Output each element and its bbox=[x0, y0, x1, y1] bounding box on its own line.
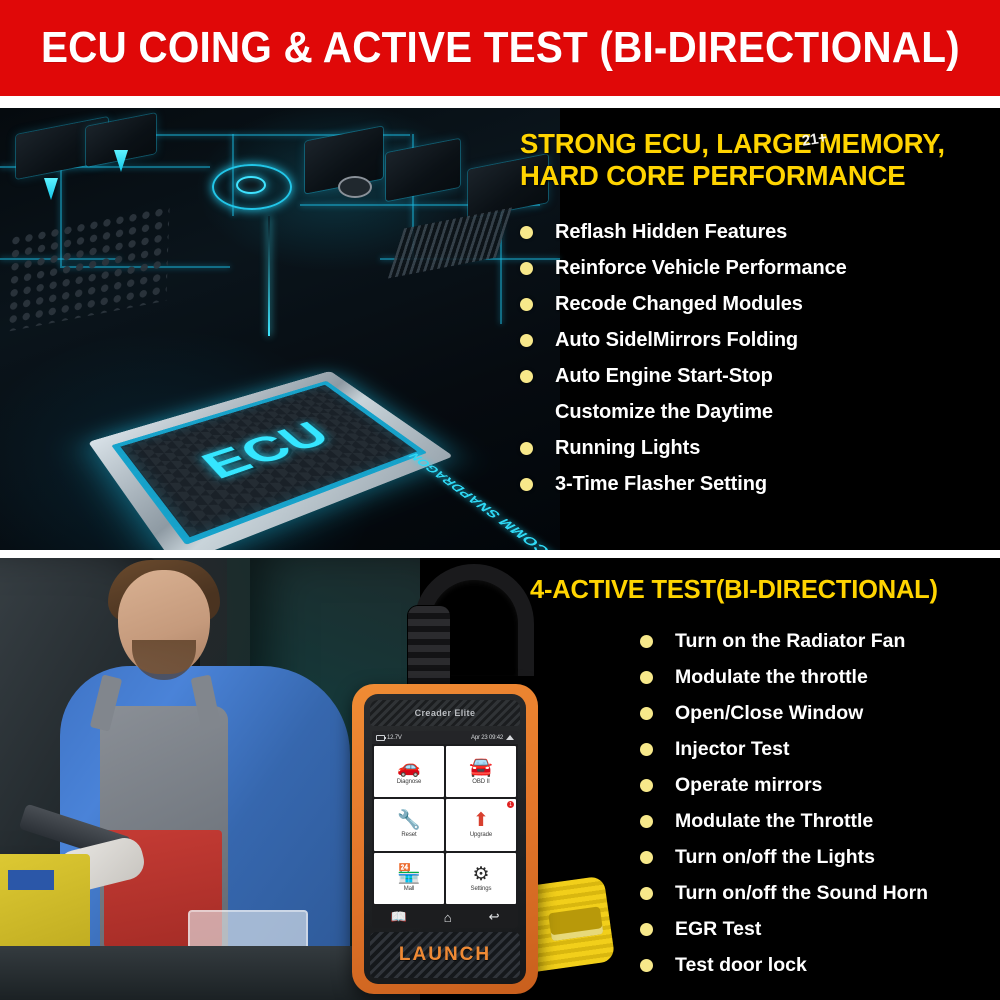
bullet-dot-icon bbox=[520, 226, 533, 239]
bullet-dot-icon bbox=[640, 707, 653, 720]
list-item-label: Running Lights bbox=[555, 437, 700, 460]
list-item-label: Open/Close Window bbox=[675, 702, 863, 725]
scan-tool-device: Creader Elite 12.7V Apr 23 09:42 bbox=[330, 588, 560, 1000]
device-brand-top: Creader Elite bbox=[415, 708, 476, 718]
toolbox-label bbox=[8, 870, 54, 890]
list-item: Auto Engine Start-Stop bbox=[520, 358, 990, 394]
bullet-dot-icon bbox=[520, 262, 533, 275]
bullet-dot-icon bbox=[640, 851, 653, 864]
tile-mall[interactable]: 🏪 Mall bbox=[374, 853, 444, 904]
ecu-heading: STRONG ECU, LARGE MEMORY, HARD CORE PERF… bbox=[520, 128, 990, 192]
battery-icon bbox=[376, 735, 385, 741]
list-item-label: Reflash Hidden Features bbox=[555, 221, 787, 244]
board-led bbox=[114, 150, 128, 172]
list-item-label: Turn on/off the Sound Horn bbox=[675, 882, 928, 905]
list-item: Turn on/off the Sound Horn bbox=[640, 875, 1000, 911]
bullet-dot-icon bbox=[640, 779, 653, 792]
upgrade-icon: ⬆ bbox=[473, 811, 489, 830]
ecu-chip-package: ECU QUALCOMM SNAPDRAGON bbox=[88, 371, 453, 550]
list-item-label: 3-Time Flasher Setting bbox=[555, 473, 767, 496]
list-item: Reinforce Vehicle Performance bbox=[520, 250, 990, 286]
bullet-dot-icon bbox=[520, 370, 533, 383]
list-item: Modulate the Throttle bbox=[640, 803, 1000, 839]
obd-icon: 🚘 bbox=[469, 758, 493, 777]
list-item-label: Recode Changed Modules bbox=[555, 293, 803, 316]
device-body: Creader Elite 12.7V Apr 23 09:42 bbox=[352, 684, 538, 994]
diagnose-icon: 🚗 bbox=[397, 758, 421, 777]
status-left: 12.7V bbox=[376, 735, 402, 741]
bullet-dot-icon bbox=[640, 743, 653, 756]
ecu-text-column: STRONG ECU, LARGE MEMORY, HARD CORE PERF… bbox=[520, 128, 990, 502]
ecu-heading-line2: HARD CORE PERFORMANCE bbox=[520, 160, 990, 192]
bullet-dot-icon bbox=[520, 478, 533, 491]
list-item: Modulate the throttle bbox=[640, 659, 1000, 695]
bullet-dot-icon bbox=[640, 815, 653, 828]
list-item-label: Turn on the Radiator Fan bbox=[675, 630, 905, 653]
circuit-board-image: ECU QUALCOMM SNAPDRAGON bbox=[0, 108, 560, 550]
bullet-dot-placeholder bbox=[520, 406, 533, 419]
reset-icon: 🔧 bbox=[397, 811, 421, 830]
list-item: Injector Test bbox=[640, 731, 1000, 767]
tile-label: OBD II bbox=[472, 779, 489, 785]
board-chip bbox=[386, 139, 460, 201]
ecu-feature-list: Reflash Hidden Features Reinforce Vehicl… bbox=[520, 214, 990, 502]
tile-label: Diagnose bbox=[397, 779, 422, 785]
tile-label: Mall bbox=[404, 886, 415, 892]
tile-label: Upgrade bbox=[470, 832, 492, 838]
list-item-label: Turn on/off the Lights bbox=[675, 846, 875, 869]
list-item: Test door lock bbox=[640, 947, 1000, 983]
ecu-panel: ECU QUALCOMM SNAPDRAGON STRONG ECU, LARG… bbox=[0, 108, 1000, 550]
device-inner-shell: Creader Elite 12.7V Apr 23 09:42 bbox=[364, 694, 526, 984]
active-test-feature-list: Turn on the Radiator Fan Modulate the th… bbox=[640, 623, 1000, 983]
bullet-dot-icon bbox=[520, 298, 533, 311]
list-item-label: Test door lock bbox=[675, 954, 807, 977]
ecu-chip-label: ECU bbox=[194, 417, 341, 486]
board-led bbox=[44, 178, 58, 200]
header-banner: ECU COING & ACTIVE TEST (BI-DIRECTIONAL) bbox=[0, 0, 1000, 96]
bullet-dot-icon bbox=[640, 959, 653, 972]
list-item: Customize the Daytime bbox=[520, 394, 990, 430]
bullet-dot-icon bbox=[520, 334, 533, 347]
back-icon[interactable]: ↩ bbox=[489, 909, 500, 925]
list-item: Turn on/off the Lights bbox=[640, 839, 1000, 875]
device-top-bezel: Creader Elite bbox=[370, 700, 520, 726]
active-test-text-column: 4-ACTIVE TEST(BI-DIRECTIONAL) Turn on th… bbox=[530, 576, 1000, 983]
upgrade-badge: 1 bbox=[507, 801, 514, 808]
board-heatsink bbox=[388, 208, 512, 279]
tile-settings[interactable]: ⚙ Settings bbox=[446, 853, 516, 904]
tile-obd2[interactable]: 🚘 OBD II bbox=[446, 746, 516, 797]
device-nav-bar: 📖 ⌂ ↩ bbox=[372, 906, 518, 928]
active-test-panel: Creader Elite 12.7V Apr 23 09:42 bbox=[0, 558, 1000, 1000]
device-screen[interactable]: 12.7V Apr 23 09:42 🚗 Diagnose bbox=[372, 731, 518, 928]
laser-beam bbox=[268, 216, 270, 336]
bullet-dot-icon bbox=[640, 635, 653, 648]
list-item: Operate mirrors bbox=[640, 767, 1000, 803]
list-item-label: Modulate the Throttle bbox=[675, 810, 873, 833]
list-item-label: Customize the Daytime bbox=[555, 401, 773, 424]
manual-icon[interactable]: 📖 bbox=[391, 909, 407, 925]
list-item-label: Auto Engine Start-Stop bbox=[555, 365, 773, 388]
datetime-readout: Apr 23 09:42 bbox=[471, 735, 503, 741]
list-item: Open/Close Window bbox=[640, 695, 1000, 731]
list-item: Turn on the Radiator Fan bbox=[640, 623, 1000, 659]
tile-label: Settings bbox=[471, 886, 492, 892]
list-item: Auto SidelMirrors Folding bbox=[520, 322, 990, 358]
list-item: EGR Test bbox=[640, 911, 1000, 947]
wifi-icon bbox=[506, 735, 514, 740]
tile-label: Reset bbox=[401, 832, 416, 838]
board-pin-grid bbox=[6, 204, 169, 332]
device-brand-logo: LAUNCH bbox=[399, 944, 491, 966]
list-item-label: Auto SidelMirrors Folding bbox=[555, 329, 798, 352]
bullet-dot-icon bbox=[640, 671, 653, 684]
board-capacitor bbox=[338, 176, 372, 198]
list-item: Reflash Hidden Features bbox=[520, 214, 990, 250]
home-icon[interactable]: ⌂ bbox=[444, 910, 452, 925]
list-item-label: Injector Test bbox=[675, 738, 790, 761]
device-status-bar: 12.7V Apr 23 09:42 bbox=[372, 731, 518, 744]
ecu-die: ECU QUALCOMM SNAPDRAGON bbox=[111, 381, 427, 545]
settings-icon: ⚙ bbox=[472, 865, 489, 884]
device-app-grid: 🚗 Diagnose 🚘 OBD II 🔧 Reset bbox=[372, 744, 518, 906]
ecu-heading-line1: STRONG ECU, LARGE MEMORY, bbox=[520, 128, 990, 160]
banner-title: ECU COING & ACTIVE TEST (BI-DIRECTIONAL) bbox=[41, 23, 960, 73]
list-item: 3-Time Flasher Setting bbox=[520, 466, 990, 502]
device-bottom-bezel: LAUNCH bbox=[370, 932, 520, 978]
list-item-label: Modulate the throttle bbox=[675, 666, 868, 689]
voltage-readout: 12.7V bbox=[387, 735, 402, 741]
tile-reset[interactable]: 🔧 Reset bbox=[374, 799, 444, 850]
bullet-dot-icon bbox=[640, 923, 653, 936]
list-item-label: Operate mirrors bbox=[675, 774, 822, 797]
active-test-heading: 4-ACTIVE TEST(BI-DIRECTIONAL) bbox=[530, 576, 1000, 605]
list-item-label: EGR Test bbox=[675, 918, 761, 941]
tile-diagnose[interactable]: 🚗 Diagnose bbox=[374, 746, 444, 797]
bullet-dot-icon bbox=[520, 442, 533, 455]
list-item: Recode Changed Modules bbox=[520, 286, 990, 322]
poster-root: ECU COING & ACTIVE TEST (BI-DIRECTIONAL) bbox=[0, 0, 1000, 1000]
tile-upgrade[interactable]: 1 ⬆ Upgrade bbox=[446, 799, 516, 850]
mall-icon: 🏪 bbox=[397, 865, 421, 884]
circuit-node-core bbox=[236, 176, 266, 194]
list-item: Running Lights bbox=[520, 430, 990, 466]
status-right: Apr 23 09:42 bbox=[471, 735, 514, 741]
bullet-dot-icon bbox=[640, 887, 653, 900]
list-item-label: Reinforce Vehicle Performance bbox=[555, 257, 847, 280]
